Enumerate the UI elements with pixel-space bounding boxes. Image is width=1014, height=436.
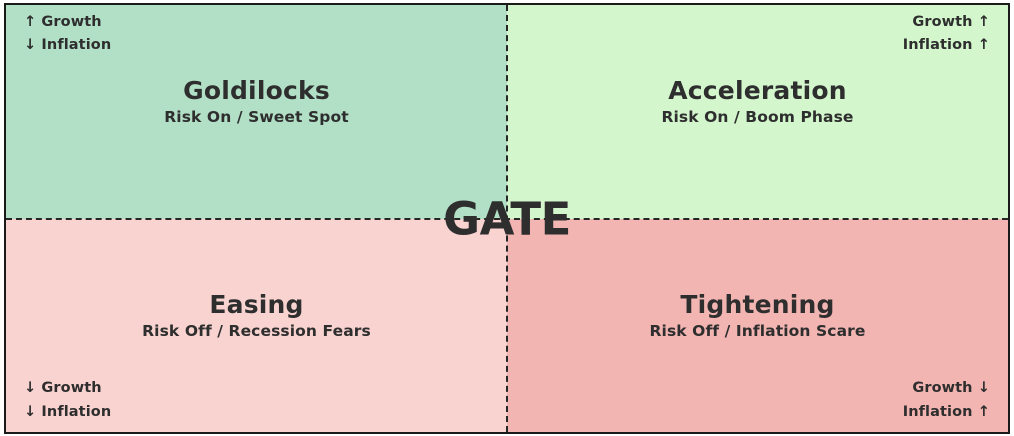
quadrant-title-goldilocks: Goldilocks: [6, 77, 507, 105]
quadrant-subtitle-easing: Risk Off / Recession Fears: [6, 323, 507, 341]
quadrant-text-tightening: Tightening Risk Off / Inflation Scare: [507, 291, 1008, 341]
growth-indicator-goldilocks: ↑ Growth: [24, 11, 111, 34]
quadrant-tightening[interactable]: Tightening Risk Off / Inflation Scare Gr…: [507, 219, 1008, 433]
quadrant-text-easing: Easing Risk Off / Recession Fears: [6, 291, 507, 341]
growth-indicator-tightening: Growth ↓: [903, 377, 990, 400]
quadrant-text-goldilocks: Goldilocks Risk On / Sweet Spot: [6, 77, 507, 127]
inflation-indicator-goldilocks: ↓ Inflation: [24, 34, 111, 57]
corner-labels-acceleration: Growth ↑ Inflation ↑: [903, 11, 990, 58]
quadrant-subtitle-acceleration: Risk On / Boom Phase: [507, 109, 1008, 127]
inflation-indicator-acceleration: Inflation ↑: [903, 34, 990, 57]
quadrant-title-tightening: Tightening: [507, 291, 1008, 319]
growth-inflation-matrix: ↑ Growth ↓ Inflation Goldilocks Risk On …: [0, 0, 1014, 436]
quadrant-text-acceleration: Acceleration Risk On / Boom Phase: [507, 77, 1008, 127]
quadrant-title-easing: Easing: [6, 291, 507, 319]
quadrant-acceleration[interactable]: Growth ↑ Inflation ↑ Acceleration Risk O…: [507, 5, 1008, 219]
quadrant-subtitle-tightening: Risk Off / Inflation Scare: [507, 323, 1008, 341]
corner-labels-tightening: Growth ↓ Inflation ↑: [903, 377, 990, 424]
quadrant-subtitle-goldilocks: Risk On / Sweet Spot: [6, 109, 507, 127]
growth-indicator-easing: ↓ Growth: [24, 377, 111, 400]
inflation-indicator-tightening: Inflation ↑: [903, 401, 990, 424]
quadrant-goldilocks[interactable]: ↑ Growth ↓ Inflation Goldilocks Risk On …: [6, 5, 507, 219]
growth-indicator-acceleration: Growth ↑: [903, 11, 990, 34]
quadrant-grid: ↑ Growth ↓ Inflation Goldilocks Risk On …: [6, 5, 1008, 432]
quadrant-easing[interactable]: Easing Risk Off / Recession Fears ↓ Grow…: [6, 219, 507, 433]
inflation-indicator-easing: ↓ Inflation: [24, 401, 111, 424]
quadrant-title-acceleration: Acceleration: [507, 77, 1008, 105]
corner-labels-goldilocks: ↑ Growth ↓ Inflation: [24, 11, 111, 58]
corner-labels-easing: ↓ Growth ↓ Inflation: [24, 377, 111, 424]
plot-area: ↑ Growth ↓ Inflation Goldilocks Risk On …: [4, 3, 1010, 434]
